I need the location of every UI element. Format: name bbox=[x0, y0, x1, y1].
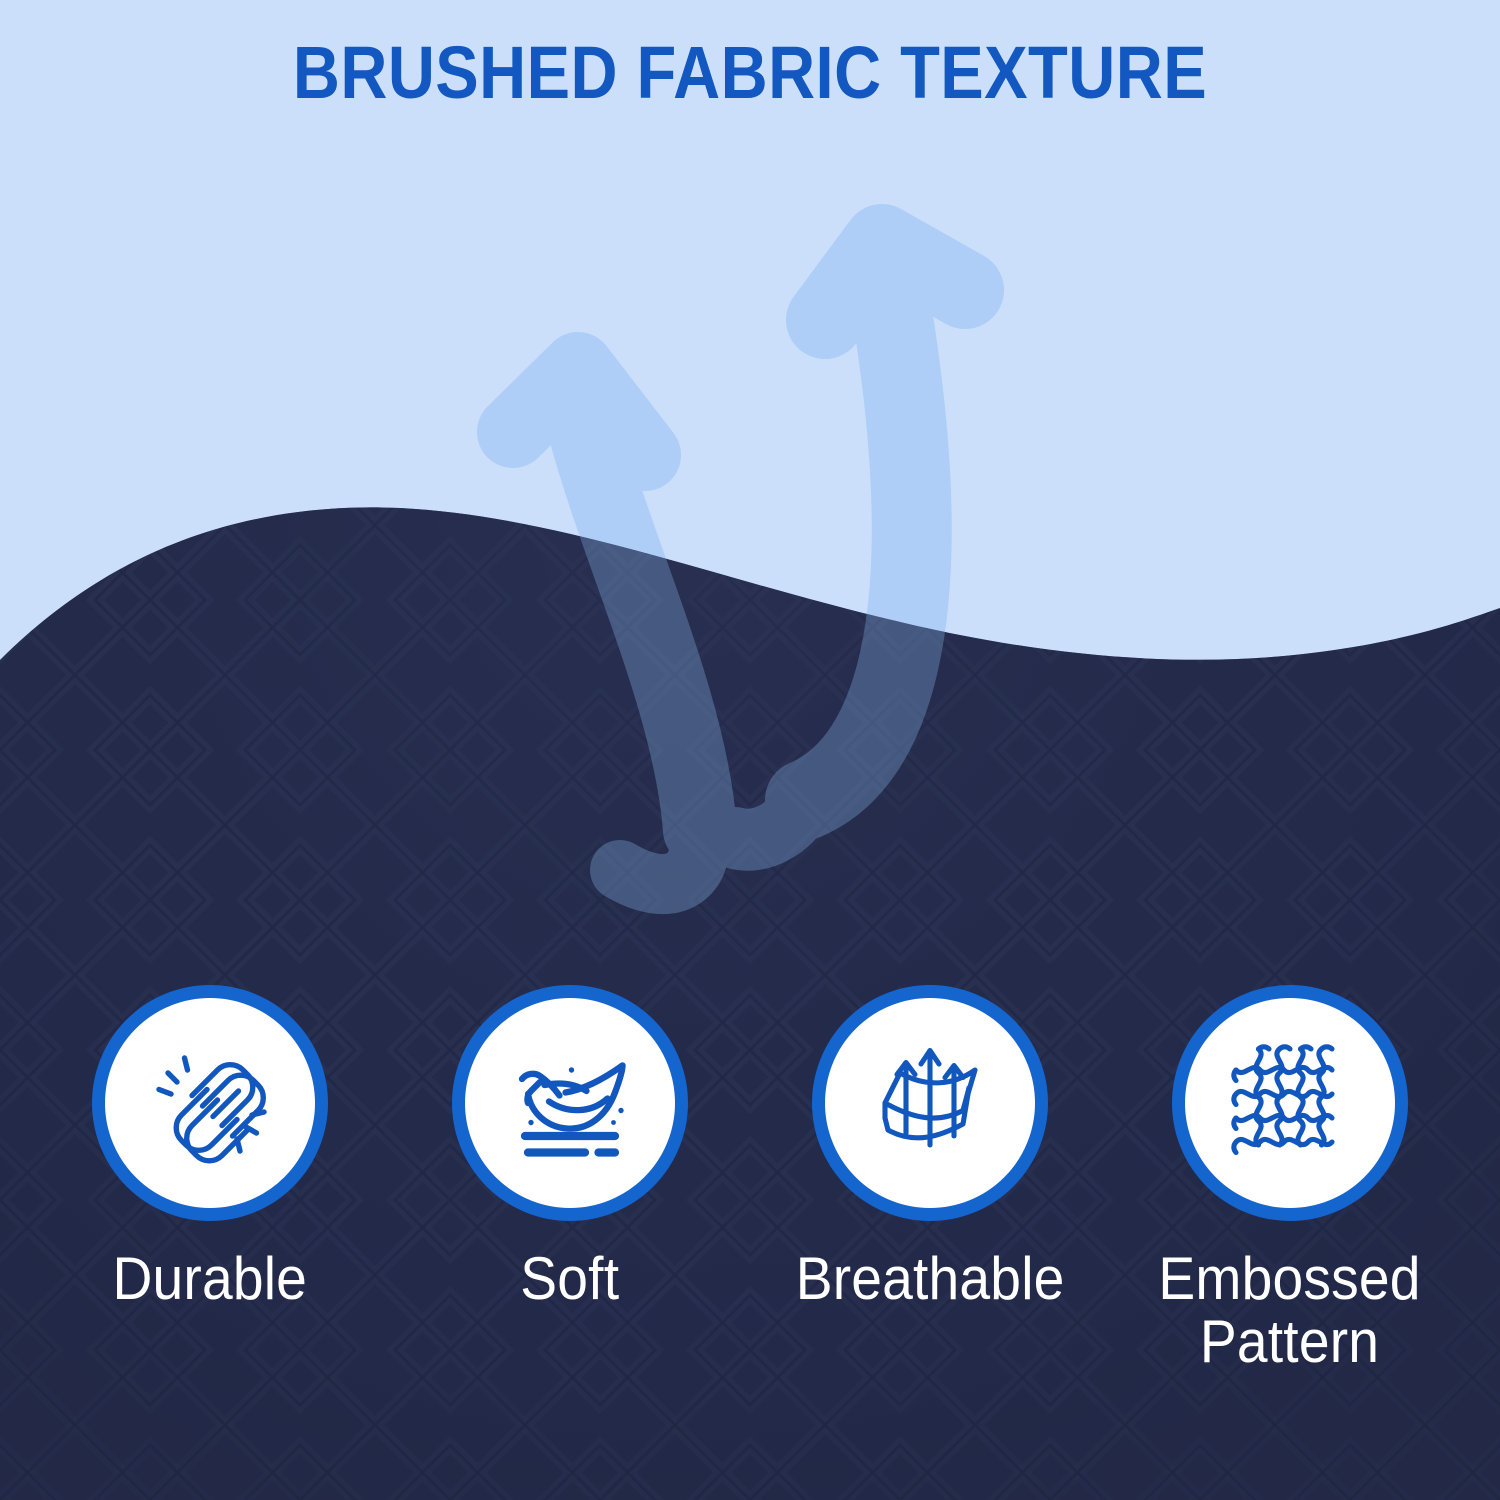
feature-item-breathable[interactable]: Breathable bbox=[780, 985, 1080, 1310]
feature-item-embossed-pattern[interactable]: Embossed Pattern bbox=[1140, 985, 1440, 1373]
woven-weave-icon bbox=[1215, 1028, 1365, 1178]
breathable-fabric-icon bbox=[855, 1028, 1005, 1178]
feature-label-durable: Durable bbox=[113, 1247, 308, 1310]
feature-item-soft[interactable]: Soft bbox=[420, 985, 720, 1310]
promo-graphic: BRUSHED FABRIC TEXTURE bbox=[0, 0, 1500, 1500]
icon-badge-durable bbox=[92, 985, 328, 1221]
chain-link-icon bbox=[135, 1028, 285, 1178]
page-title: BRUSHED FABRIC TEXTURE bbox=[90, 36, 1410, 110]
icon-badge-breathable bbox=[812, 985, 1048, 1221]
feature-item-durable[interactable]: Durable bbox=[60, 985, 360, 1310]
feature-label-soft: Soft bbox=[521, 1247, 620, 1310]
feature-label-embossed-pattern: Embossed Pattern bbox=[1159, 1247, 1421, 1373]
feather-soft-icon bbox=[495, 1028, 645, 1178]
icon-badge-soft bbox=[452, 985, 688, 1221]
icon-badge-embossed-pattern bbox=[1172, 985, 1408, 1221]
feature-list: Durable bbox=[60, 985, 1440, 1425]
feature-label-breathable: Breathable bbox=[796, 1247, 1065, 1310]
